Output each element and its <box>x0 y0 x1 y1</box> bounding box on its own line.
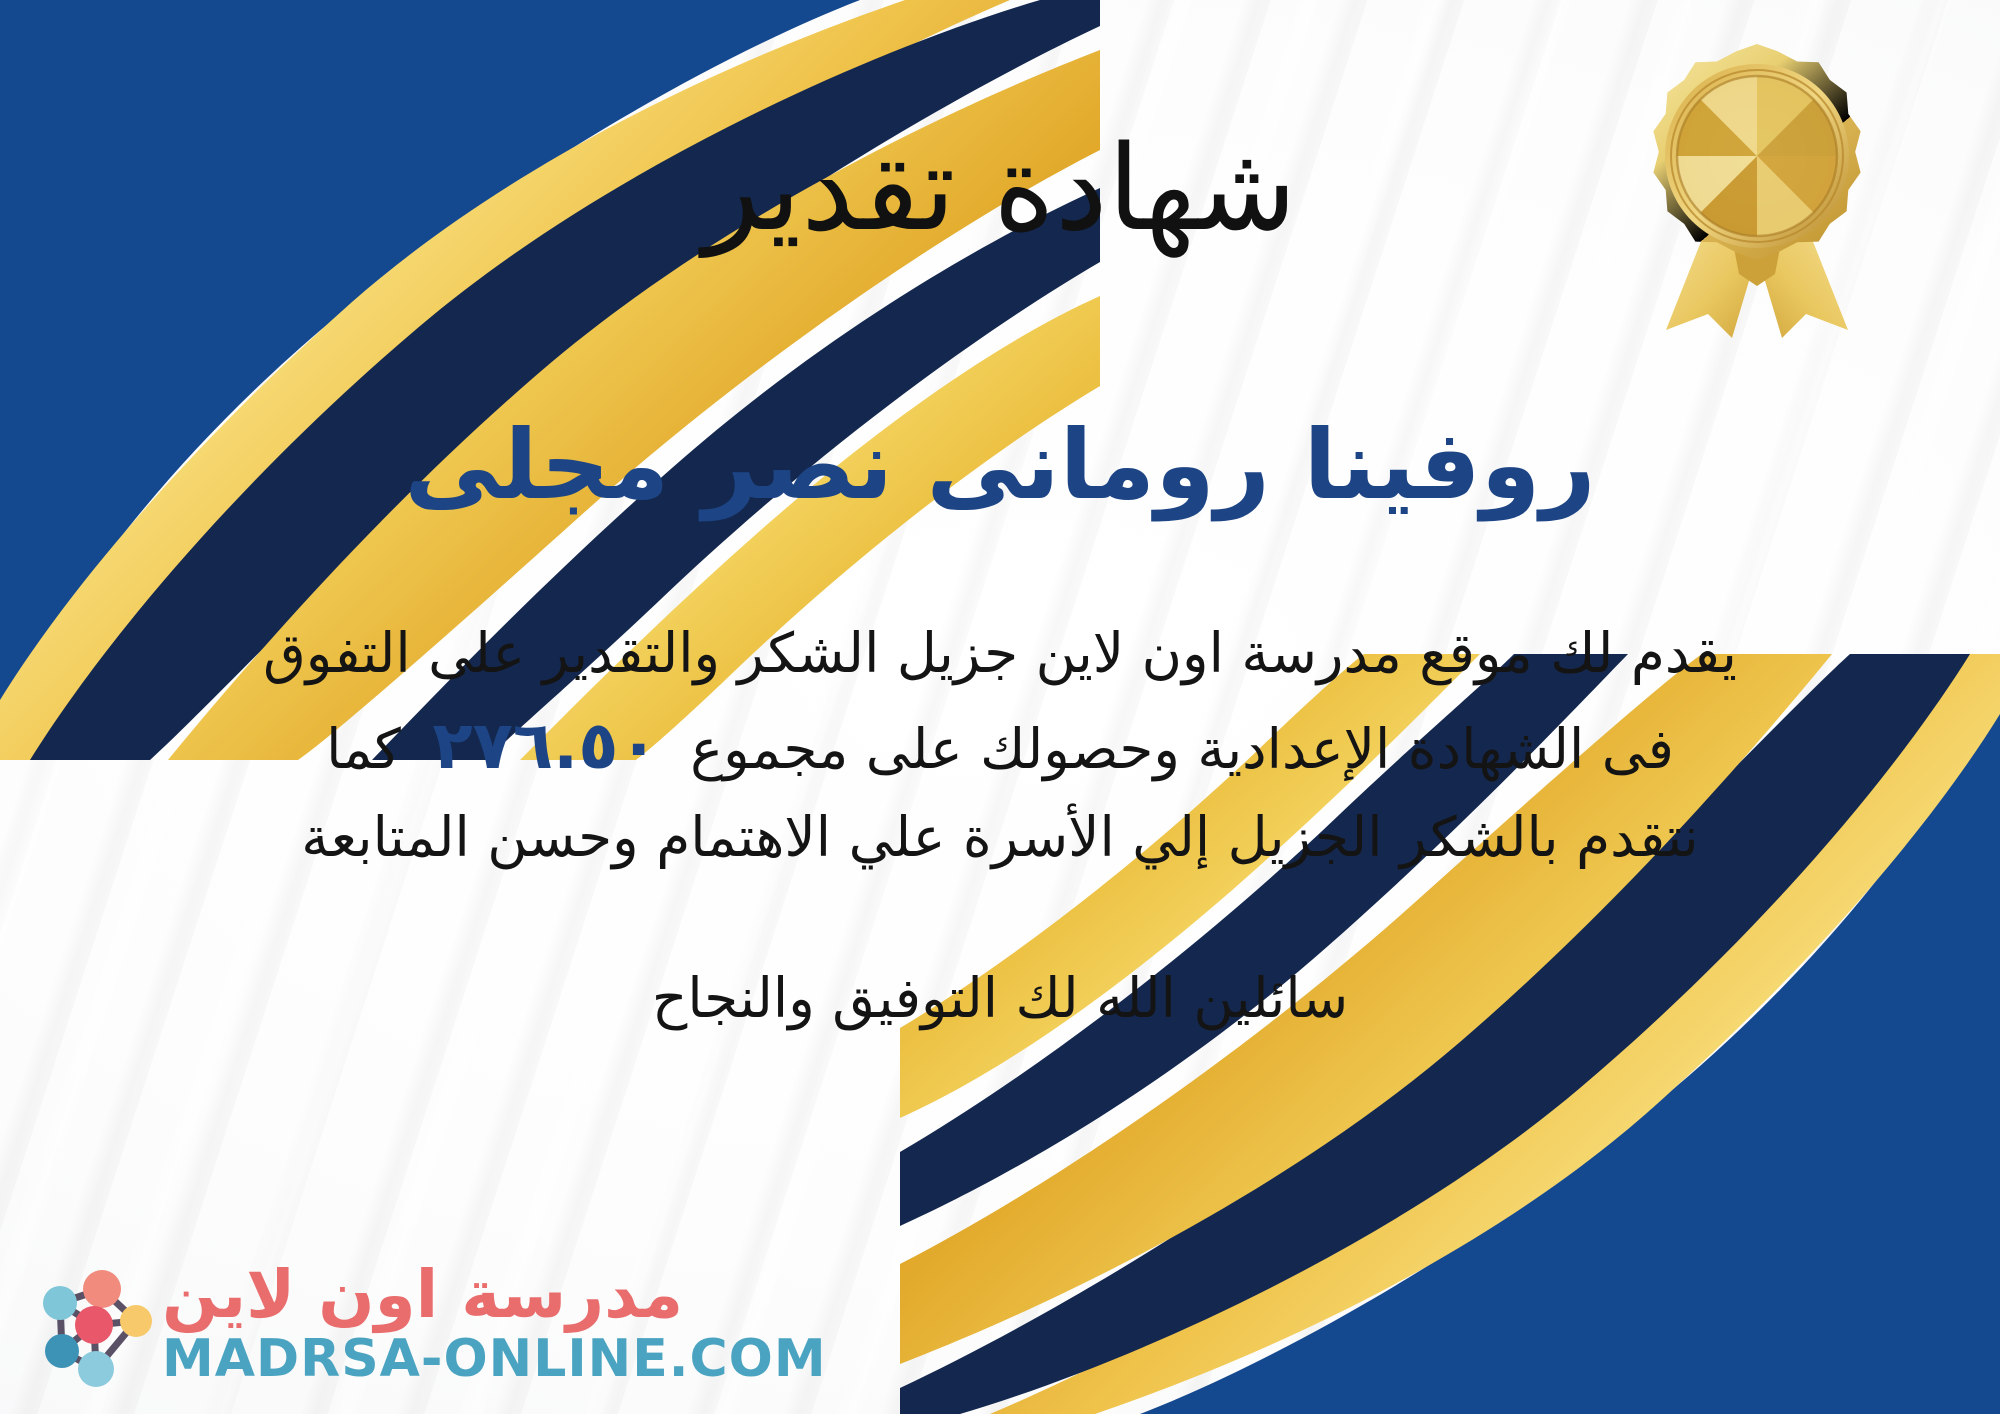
body-line-2-suffix: كما <box>326 717 401 781</box>
score-value: ٢٧٦.٥٠ <box>418 707 673 784</box>
body-line-2-prefix: فى الشهادة الإعدادية وحصولك على مجموع <box>690 717 1674 781</box>
body-line-2: فى الشهادة الإعدادية وحصولك على مجموع ٢٧… <box>50 696 1950 796</box>
gold-award-seal-icon <box>1632 38 1882 338</box>
brand-text: مدرسة اون لاين MADRSA-ONLINE.COM <box>162 1259 827 1389</box>
network-nodes-icon <box>24 1259 156 1387</box>
page-title: شهادة تقدير <box>703 125 1297 252</box>
body-line-3: نتقدم بالشكر الجزيل إلي الأسرة علي الاهت… <box>50 796 1950 880</box>
brand-logo[interactable]: مدرسة اون لاين MADRSA-ONLINE.COM <box>24 1259 827 1389</box>
recipient-name: روفينا رومانى نصر مجلى <box>404 412 1595 520</box>
certificate-body: يقدم لك موقع مدرسة اون لاين جزيل الشكر و… <box>50 612 1950 880</box>
brand-website: MADRSA-ONLINE.COM <box>162 1330 827 1388</box>
body-line-1: يقدم لك موقع مدرسة اون لاين جزيل الشكر و… <box>50 612 1950 696</box>
closing-line: سائلين الله لك التوفيق والنجاح <box>652 957 1348 1040</box>
certificate-page: شهادة تقدير روفينا رومانى نصر مجلى يقدم … <box>0 0 2000 1414</box>
brand-name-arabic: مدرسة اون لاين <box>162 1259 683 1330</box>
